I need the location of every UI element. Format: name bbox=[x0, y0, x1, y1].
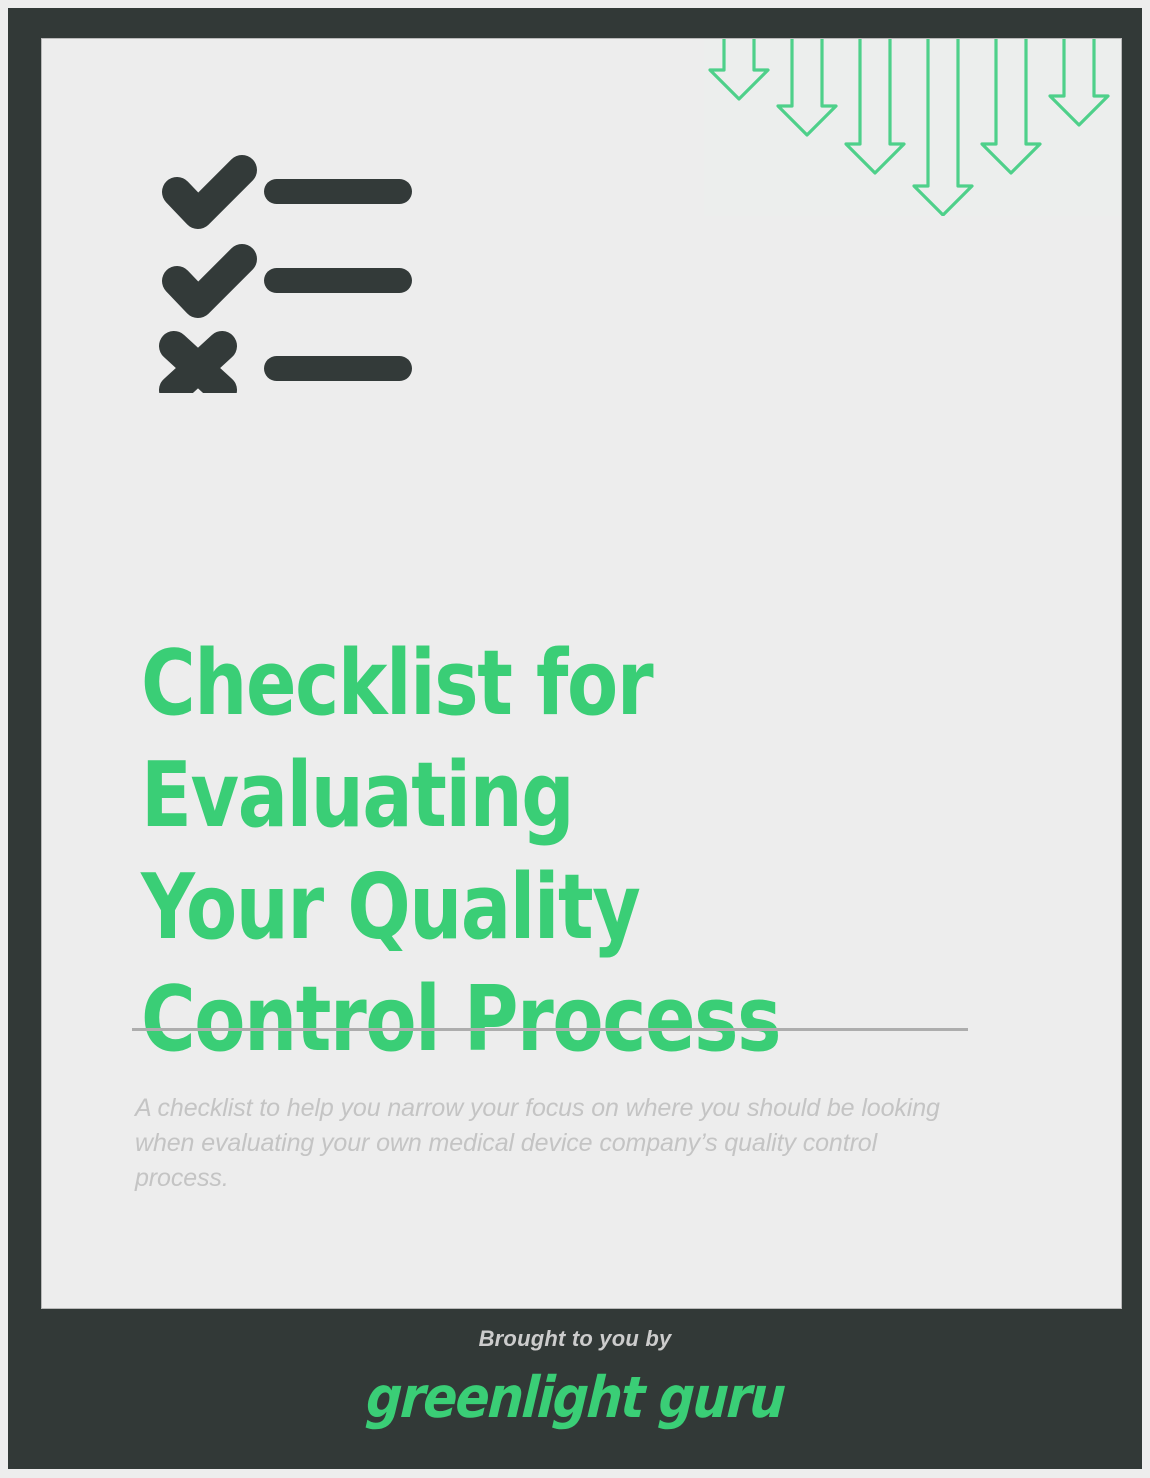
cross-icon bbox=[174, 346, 222, 390]
check-icon bbox=[177, 170, 242, 214]
footer-kicker: Brought to you by bbox=[8, 1326, 1142, 1352]
down-arrows-decoration bbox=[704, 39, 1121, 216]
list-bar bbox=[264, 356, 412, 381]
brand-logo: greenlight guru bbox=[364, 1366, 785, 1430]
page-title: Checklist for Evaluating Your Quality Co… bbox=[141, 628, 969, 1076]
check-icon bbox=[177, 259, 242, 303]
list-bar bbox=[264, 268, 412, 293]
cover-card: Checklist for Evaluating Your Quality Co… bbox=[8, 8, 1142, 1469]
list-bar bbox=[264, 179, 412, 204]
title-divider bbox=[132, 1028, 968, 1031]
page-subtitle: A checklist to help you narrow your focu… bbox=[135, 1091, 975, 1196]
down-arrows-icon bbox=[704, 39, 1121, 216]
cover-page: Checklist for Evaluating Your Quality Co… bbox=[42, 39, 1121, 1308]
checklist-glyph bbox=[132, 128, 422, 393]
checklist-icon bbox=[132, 128, 422, 393]
footer: Brought to you by greenlight guru bbox=[8, 1300, 1142, 1469]
